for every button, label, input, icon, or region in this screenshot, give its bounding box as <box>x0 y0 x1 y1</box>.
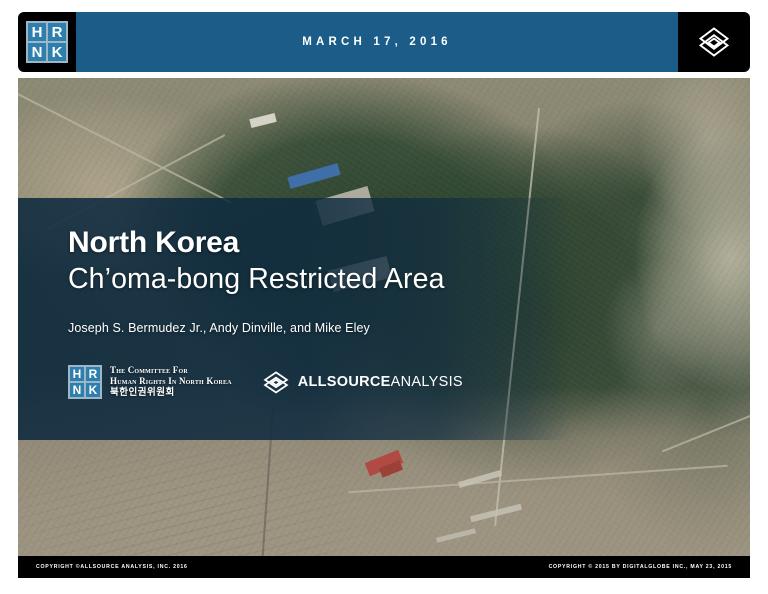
hrnk-letter-k: K <box>86 383 100 397</box>
footer-copyright-left: COPYRIGHT ©ALLSOURCE ANALYSIS, INC. 2016 <box>36 564 188 570</box>
allsource-word-bold: ALLSOURCE <box>298 374 391 390</box>
authors-line: Joseph S. Bermudez Jr., Andy Dinville, a… <box>68 321 578 335</box>
header-hrnk-logo: H R N K <box>18 12 76 72</box>
credits-row: H R N K The Committee for Human Rights i… <box>68 365 578 399</box>
hrnk-letter-h: H <box>70 367 84 381</box>
page-title: North Korea <box>68 225 578 260</box>
footer-copyright-right: COPYRIGHT © 2015 BY DIGITALGLOBE INC., M… <box>549 564 732 570</box>
hrnk-letter-h: H <box>28 23 46 41</box>
credit-hrnk: H R N K The Committee for Human Rights i… <box>68 365 232 399</box>
footer-bar: COPYRIGHT ©ALLSOURCE ANALYSIS, INC. 2016… <box>18 556 750 578</box>
stacked-diamonds-icon <box>696 24 732 60</box>
allsource-word-light: ANALYSIS <box>391 374 463 390</box>
slide-root: H R N K MARCH 17, 2016 <box>0 0 768 594</box>
title-overlay-content: North Korea Ch’oma-bong Restricted Area … <box>18 198 578 440</box>
hrnk-wordmark: The Committee for Human Rights in North … <box>110 365 232 399</box>
hrnk-letter-n: N <box>70 383 84 397</box>
credit-allsource: ALLSOURCE ANALYSIS <box>262 368 463 396</box>
hrnk-line-korean: 북한인권위원회 <box>110 387 232 399</box>
header-date-band: MARCH 17, 2016 <box>76 12 678 72</box>
hrnk-letter-r: R <box>48 23 66 41</box>
hrnk-letter-n: N <box>28 43 46 61</box>
allsource-wordmark: ALLSOURCE ANALYSIS <box>298 374 463 390</box>
page-subtitle: Ch’oma-bong Restricted Area <box>68 262 578 296</box>
hrnk-line-1: The Committee for <box>110 365 232 376</box>
header-bar: H R N K MARCH 17, 2016 <box>18 12 750 72</box>
header-allsource-logo <box>678 12 750 72</box>
hrnk-logo-grid: H R N K <box>26 21 68 63</box>
hrnk-letter-k: K <box>48 43 66 61</box>
stacked-diamonds-icon <box>262 368 290 396</box>
hrnk-letter-r: R <box>86 367 100 381</box>
hrnk-line-2: Human Rights in North Korea <box>110 376 232 387</box>
hrnk-credit-logo: H R N K <box>68 365 102 399</box>
header-date-text: MARCH 17, 2016 <box>302 36 452 48</box>
